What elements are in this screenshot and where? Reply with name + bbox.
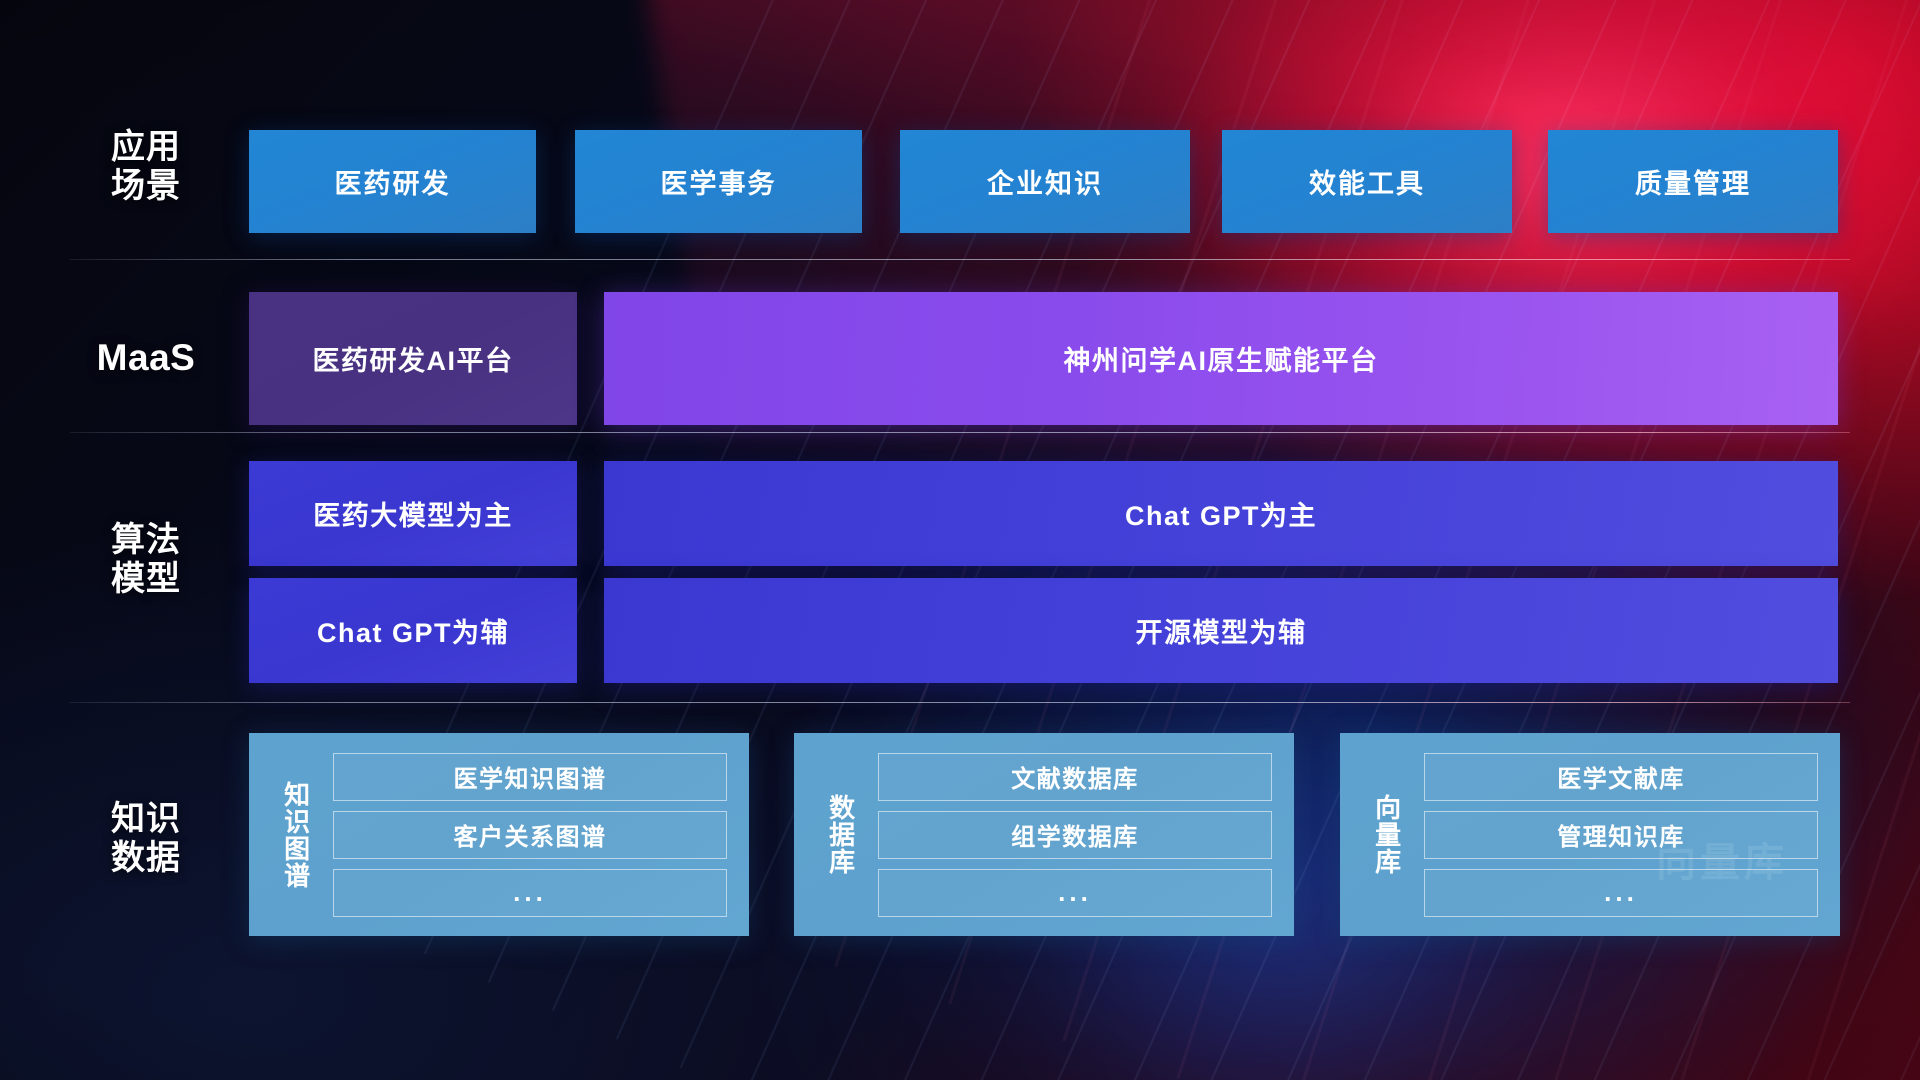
divider-algorithm-knowledge: [70, 702, 1850, 703]
scenario-box-3-label: 企业知识: [987, 162, 1103, 201]
row-label-scenario: 应用 场景: [80, 128, 212, 207]
knowledge-item[interactable]: 文献数据库: [878, 753, 1272, 801]
knowledge-panel-vector-store[interactable]: 向量库 医学文献库 管理知识库 ... 向量库: [1340, 733, 1840, 936]
algorithm-right-box-1-label: Chat GPT为主: [1125, 494, 1317, 533]
knowledge-item-more[interactable]: ...: [333, 869, 727, 917]
maas-right-box-label: 神州问学AI原生赋能平台: [1064, 339, 1379, 378]
algorithm-left-box-2[interactable]: Chat GPT为辅: [249, 578, 577, 683]
maas-right-box[interactable]: 神州问学AI原生赋能平台: [604, 292, 1838, 425]
knowledge-item-more[interactable]: ...: [1424, 869, 1818, 917]
knowledge-item[interactable]: 客户关系图谱: [333, 811, 727, 859]
knowledge-panel-2-items: 文献数据库 组学数据库 ...: [868, 753, 1294, 917]
algorithm-right-box-2-label: 开源模型为辅: [1136, 611, 1307, 650]
scenario-box-2[interactable]: 医学事务: [575, 130, 862, 233]
scenario-box-4-label: 效能工具: [1309, 162, 1425, 201]
divider-maas-algorithm: [70, 432, 1850, 433]
knowledge-panel-2-title: 数据库: [794, 733, 868, 936]
divider-scenario-maas: [70, 259, 1850, 260]
architecture-diagram: 应用 场景 医药研发 医学事务 企业知识 效能工具 质量管理 MaaS 医药研发…: [0, 0, 1920, 1080]
scenario-box-5[interactable]: 质量管理: [1548, 130, 1838, 233]
maas-left-box[interactable]: 医药研发AI平台: [249, 292, 577, 425]
knowledge-item-more[interactable]: ...: [878, 869, 1272, 917]
knowledge-panel-3-items: 医学文献库 管理知识库 ...: [1414, 753, 1840, 917]
knowledge-panel-1-title: 知识图谱: [249, 733, 323, 936]
algorithm-right-box-1[interactable]: Chat GPT为主: [604, 461, 1838, 566]
algorithm-left-box-2-label: Chat GPT为辅: [317, 611, 509, 650]
row-label-knowledge: 知识 数据: [80, 800, 212, 879]
scenario-box-5-label: 质量管理: [1635, 162, 1751, 201]
algorithm-left-box-1[interactable]: 医药大模型为主: [249, 461, 577, 566]
knowledge-panel-3-title: 向量库: [1340, 733, 1414, 936]
algorithm-right-box-2[interactable]: 开源模型为辅: [604, 578, 1838, 683]
knowledge-panel-database[interactable]: 数据库 文献数据库 组学数据库 ...: [794, 733, 1294, 936]
scenario-box-1-label: 医药研发: [335, 162, 451, 201]
scenario-box-4[interactable]: 效能工具: [1222, 130, 1512, 233]
scenario-box-2-label: 医学事务: [661, 162, 777, 201]
scenario-box-3[interactable]: 企业知识: [900, 130, 1190, 233]
maas-left-box-label: 医药研发AI平台: [313, 339, 514, 378]
knowledge-item[interactable]: 医学文献库: [1424, 753, 1818, 801]
knowledge-item[interactable]: 组学数据库: [878, 811, 1272, 859]
knowledge-panel-1-items: 医学知识图谱 客户关系图谱 ...: [323, 753, 749, 917]
knowledge-item[interactable]: 医学知识图谱: [333, 753, 727, 801]
knowledge-panel-knowledge-graph[interactable]: 知识图谱 医学知识图谱 客户关系图谱 ...: [249, 733, 749, 936]
row-label-maas: MaaS: [80, 337, 212, 380]
knowledge-item[interactable]: 管理知识库: [1424, 811, 1818, 859]
row-label-algorithm: 算法 模型: [80, 521, 212, 600]
scenario-box-1[interactable]: 医药研发: [249, 130, 536, 233]
algorithm-left-box-1-label: 医药大模型为主: [313, 494, 513, 533]
